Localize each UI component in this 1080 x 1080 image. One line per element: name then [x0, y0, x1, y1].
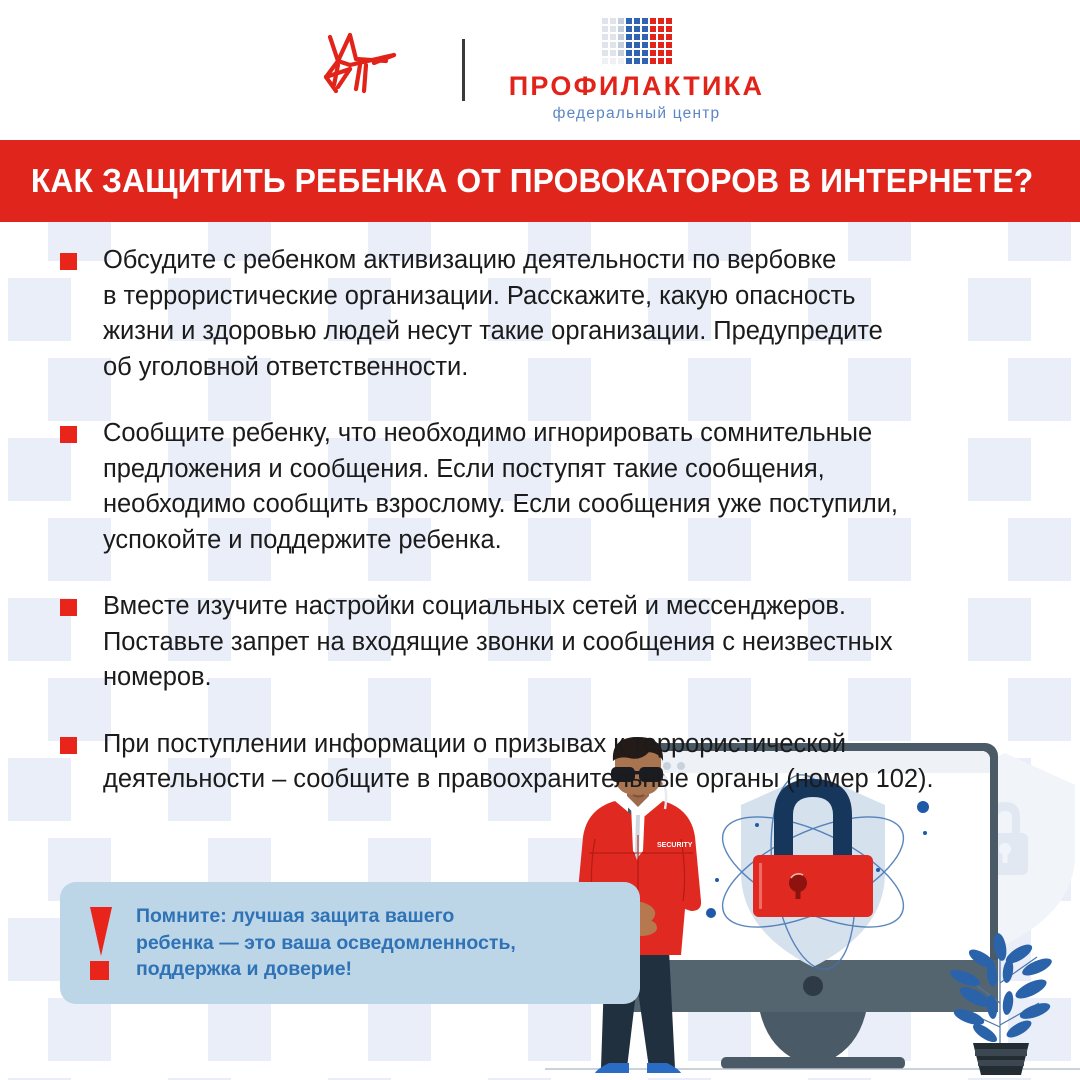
logo-grid-cell	[626, 18, 632, 24]
pattern-cell	[48, 998, 111, 1061]
logo-grid-cell	[602, 42, 608, 48]
red-horse-line-art-icon	[316, 25, 426, 115]
logo-grid-cell	[618, 58, 624, 64]
logo-grid-cell	[650, 58, 656, 64]
logo-grid-cell	[610, 50, 616, 56]
profilaktika-logo: ПРОФИЛАКТИКА федеральный центр	[509, 18, 765, 122]
pattern-cell	[368, 998, 431, 1061]
logo-grid-cell	[634, 42, 640, 48]
logo-grid-cell	[666, 34, 672, 40]
advice-text: Обсудите с ребенком активизацию деятельн…	[103, 243, 1010, 385]
logo-grid-cell	[602, 34, 608, 40]
tricolor-pixel-grid-icon	[602, 18, 672, 64]
logo-grid-cell	[650, 50, 656, 56]
logo-grid-cell	[658, 50, 664, 56]
advice-item: Обсудите с ребенком активизацию деятельн…	[60, 243, 1010, 385]
logo-grid-cell	[666, 50, 672, 56]
logo-grid-cell	[634, 50, 640, 56]
logo-grid-cell	[666, 58, 672, 64]
logo-grid-cell	[658, 18, 664, 24]
logo-grid-cell	[666, 42, 672, 48]
logo-grid-cell	[634, 26, 640, 32]
title-banner: КАК ЗАЩИТИТЬ РЕБЕНКА ОТ ПРОВОКАТОРОВ В И…	[0, 140, 1080, 222]
logo-grid-cell	[642, 42, 648, 48]
logo-grid-cell	[626, 50, 632, 56]
logo-grid-cell	[642, 50, 648, 56]
logo-grid-cell	[626, 26, 632, 32]
logo-grid-cell	[666, 26, 672, 32]
logo-grid-cell	[610, 58, 616, 64]
logo-grid-cell	[602, 26, 608, 32]
red-square-bullet-icon	[60, 426, 77, 443]
red-square-bullet-icon	[60, 599, 77, 616]
advice-item: Сообщите ребенку, что необходимо игнорир…	[60, 416, 1010, 558]
pattern-cell	[208, 998, 271, 1061]
logo-grid-cell	[618, 34, 624, 40]
logo-grid-cell	[618, 26, 624, 32]
logo-grid-cell	[602, 50, 608, 56]
logo-grid-cell	[610, 42, 616, 48]
logo-grid-cell	[602, 58, 608, 64]
red-square-bullet-icon	[60, 737, 77, 754]
header-logos: ПРОФИЛАКТИКА федеральный центр	[0, 0, 1080, 140]
advice-list: Обсудите с ребенком активизацию деятельн…	[60, 243, 1010, 829]
logo-grid-cell	[642, 34, 648, 40]
red-exclamation-mark-icon	[86, 907, 116, 979]
logo-grid-cell	[658, 34, 664, 40]
logo-grid-cell	[666, 18, 672, 24]
logo-grid-cell	[650, 42, 656, 48]
logo-grid-cell	[650, 18, 656, 24]
page-title: КАК ЗАЩИТИТЬ РЕБЕНКА ОТ ПРОВОКАТОРОВ В И…	[0, 162, 1033, 200]
logo-grid-cell	[650, 26, 656, 32]
infographic-poster: ПРОФИЛАКТИКА федеральный центр КАК ЗАЩИТ…	[0, 0, 1080, 1080]
logo-grid-cell	[642, 26, 648, 32]
logo-grid-cell	[634, 34, 640, 40]
logo-grid-cell	[610, 18, 616, 24]
advice-item: Вместе изучите настройки социальных сете…	[60, 589, 1010, 696]
logo-grid-cell	[618, 50, 624, 56]
logo-grid-cell	[626, 58, 632, 64]
logo-grid-cell	[626, 34, 632, 40]
logo-grid-cell	[610, 26, 616, 32]
logo-grid-cell	[626, 42, 632, 48]
brand-subtitle: федеральный центр	[553, 106, 721, 122]
logo-grid-cell	[658, 26, 664, 32]
logo-grid-cell	[618, 18, 624, 24]
logo-grid-cell	[602, 18, 608, 24]
brand-name: ПРОФИЛАКТИКА	[509, 73, 765, 100]
advice-text: Сообщите ребенку, что необходимо игнорир…	[103, 416, 1010, 558]
pattern-cell	[1008, 678, 1071, 741]
vertical-divider-icon	[462, 39, 465, 101]
pattern-cell	[1008, 358, 1071, 421]
advice-item: При поступлении информации о призывах к …	[60, 727, 1010, 798]
red-square-bullet-icon	[60, 253, 77, 270]
guard-jacket-label: SECURITY	[657, 842, 693, 849]
logo-grid-cell	[650, 34, 656, 40]
logo-grid-cell	[634, 18, 640, 24]
advice-text: Вместе изучите настройки социальных сете…	[103, 589, 1010, 696]
pattern-cell	[1008, 518, 1071, 581]
remember-callout: Помните: лучшая защита вашего ребенка — …	[60, 882, 640, 1004]
callout-text: Помните: лучшая защита вашего ребенка — …	[136, 903, 516, 983]
logo-grid-cell	[658, 58, 664, 64]
logo-grid-cell	[634, 58, 640, 64]
logo-grid-cell	[658, 42, 664, 48]
logo-grid-cell	[610, 34, 616, 40]
logo-grid-cell	[642, 18, 648, 24]
logo-grid-cell	[618, 42, 624, 48]
logo-grid-cell	[642, 58, 648, 64]
advice-text: При поступлении информации о призывах к …	[103, 727, 1010, 798]
